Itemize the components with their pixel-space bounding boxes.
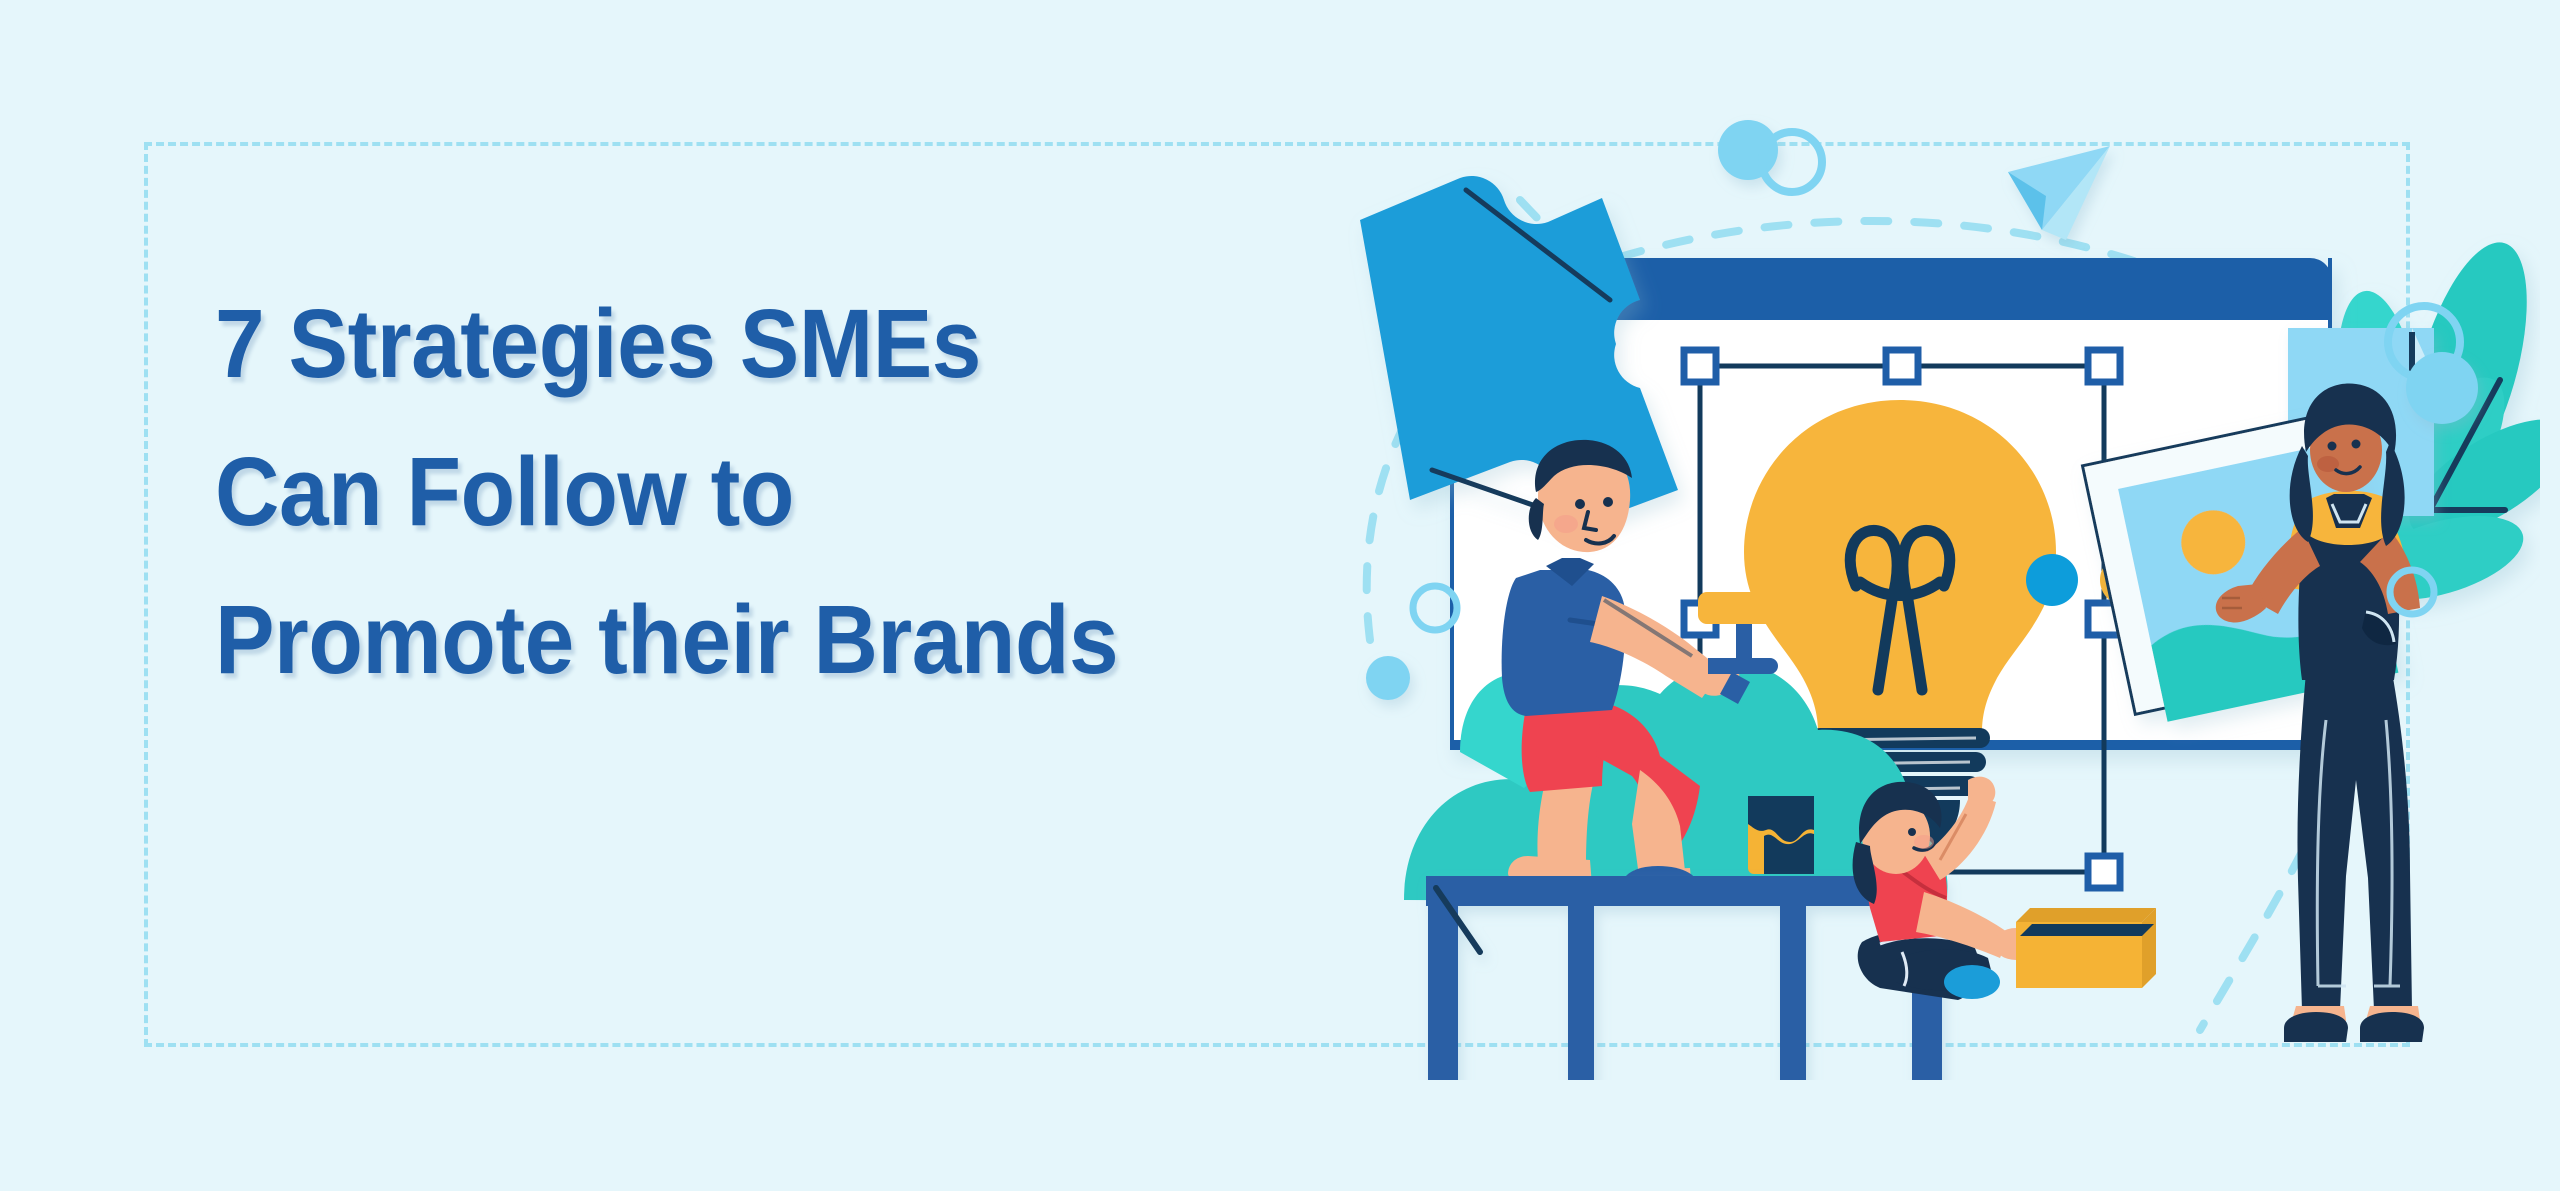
decor-circle-filled-left [1366, 656, 1410, 700]
handle-top-center [1886, 350, 1918, 382]
headline-line-1: 7 Strategies SMEs [215, 270, 1337, 418]
decor-circle-filled-right [2406, 352, 2478, 424]
handle-top-left [1684, 350, 1716, 382]
paper-plane-icon [2008, 146, 2110, 240]
headline-line-2: Can Follow to [215, 418, 1337, 566]
handle-top-right [2088, 350, 2120, 382]
paint-can-icon [1748, 796, 1814, 874]
headline-line-3: Promote their Brands [215, 566, 1337, 714]
banner: 7 Strategies SMEs Can Follow to Promote … [0, 0, 2560, 1191]
orange-box-icon [2016, 908, 2156, 988]
handle-bottom-right [2088, 856, 2120, 888]
page-title: 7 Strategies SMEs Can Follow to Promote … [215, 270, 1435, 714]
decor-circle-filled-top [1718, 120, 1778, 180]
hero-illustration [1340, 80, 2540, 1080]
color-dot-blue [2026, 554, 2078, 606]
